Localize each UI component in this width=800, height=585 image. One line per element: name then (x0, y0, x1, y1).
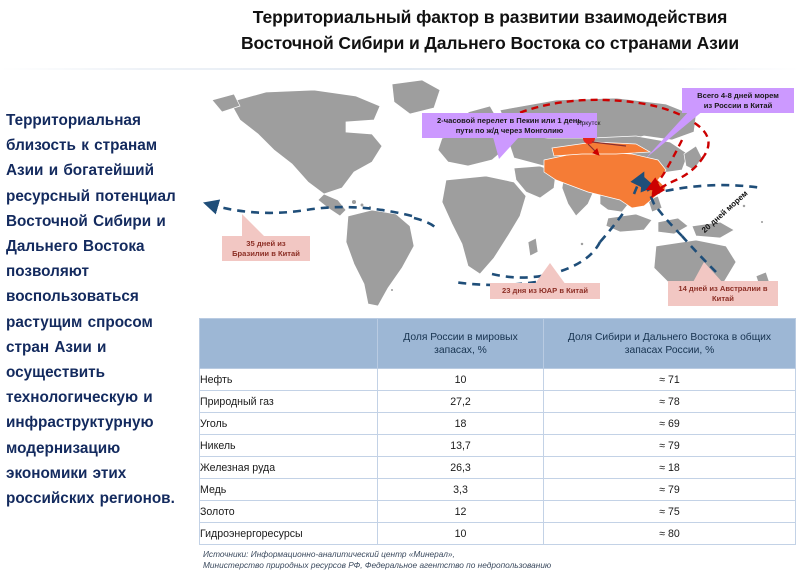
cell-world-share: 18 (378, 413, 544, 435)
callout-brazil-china: 35 дней из Бразилии в Китай (222, 236, 310, 261)
table-header-siberia-share: Доля Сибири и Дальнего Востока в общих з… (544, 319, 796, 369)
table-row: Золото 12 ≈ 75 (200, 501, 796, 523)
cell-world-share: 13,7 (378, 435, 544, 457)
callout-brazil-china-tail (238, 214, 278, 238)
cell-resource-name: Гидроэнергоресурсы (200, 523, 378, 545)
callout-south-africa-china: 23 дня из ЮАР в Китай (490, 283, 600, 299)
cell-world-share: 27,2 (378, 391, 544, 413)
callout-australia-line1: 14 дней из Австралии в (672, 284, 774, 294)
callout-australia-line2: Китай (672, 294, 774, 304)
table-header-blank (200, 319, 378, 369)
callout-russia-china-tail (646, 110, 706, 162)
title-line-1: Территориальный фактор в развитии взаимо… (190, 4, 790, 30)
cell-resource-name: Медь (200, 479, 378, 501)
table-row: Нефть 10 ≈ 71 (200, 369, 796, 391)
cell-siberia-share: ≈ 69 (544, 413, 796, 435)
table-body: Нефть 10 ≈ 71 Природный газ 27,2 ≈ 78 Уг… (200, 369, 796, 545)
cell-siberia-share: ≈ 79 (544, 479, 796, 501)
title-line-2: Восточной Сибири и Дальнего Востока со с… (190, 30, 790, 56)
cell-siberia-share: ≈ 79 (544, 435, 796, 457)
callout-flight-beijing-line1: 2-часовой перелет в Пекин или 1 день (426, 116, 593, 126)
source-line-2: Министерство природных ресурсов РФ, Феде… (203, 560, 795, 571)
cell-resource-name: Нефть (200, 369, 378, 391)
table-row: Уголь 18 ≈ 69 (200, 413, 796, 435)
callout-flight-beijing-line2: пути по ж/д через Монголию (426, 126, 593, 136)
cell-resource-name: Природный газ (200, 391, 378, 413)
cell-siberia-share: ≈ 71 (544, 369, 796, 391)
cell-world-share: 12 (378, 501, 544, 523)
table-row: Природный газ 27,2 ≈ 78 (200, 391, 796, 413)
cell-resource-name: Никель (200, 435, 378, 457)
table-row: Гидроэнергоресурсы 10 ≈ 80 (200, 523, 796, 545)
callout-brazil-china-line2: Бразилии в Китай (226, 249, 306, 259)
slide-root: Территориальный фактор в развитии взаимо… (0, 0, 800, 585)
table-row: Медь 3,3 ≈ 79 (200, 479, 796, 501)
callout-russia-china-sea: Всего 4-8 дней морем из России в Китай (682, 88, 794, 113)
cell-world-share: 26,3 (378, 457, 544, 479)
map-label-irkutsk: Иркутск (577, 120, 600, 127)
table-row: Никель 13,7 ≈ 79 (200, 435, 796, 457)
cell-resource-name: Железная руда (200, 457, 378, 479)
cell-siberia-share: ≈ 18 (544, 457, 796, 479)
slide-title: Территориальный фактор в развитии взаимо… (190, 4, 790, 56)
callout-flight-beijing-tail (493, 137, 533, 167)
table-source-note: Источники: Информационно-аналитический ц… (199, 549, 795, 571)
callout-south-africa-line1: 23 дня из ЮАР в Китай (494, 286, 596, 296)
sidebar-description: Территориальная близость к странам Азии … (6, 108, 192, 511)
table-header-world-share: Доля России в мировых запасах, % (378, 319, 544, 369)
callout-flight-beijing: 2-часовой перелет в Пекин или 1 день пут… (422, 113, 597, 138)
callout-russia-china-line1: Всего 4-8 дней морем (686, 91, 790, 101)
source-line-1: Источники: Информационно-аналитический ц… (203, 549, 795, 560)
table-header-row: Доля России в мировых запасах, % Доля Си… (200, 319, 796, 369)
callout-russia-china-line2: из России в Китай (686, 101, 790, 111)
cell-resource-name: Золото (200, 501, 378, 523)
cell-siberia-share: ≈ 78 (544, 391, 796, 413)
resources-table-zone: Доля России в мировых запасах, % Доля Си… (199, 318, 795, 571)
callout-south-africa-tail (520, 263, 570, 285)
cell-world-share: 10 (378, 523, 544, 545)
resources-table: Доля России в мировых запасах, % Доля Си… (199, 318, 796, 545)
table-row: Железная руда 26,3 ≈ 18 (200, 457, 796, 479)
sidebar-paragraph: Территориальная близость к странам Азии … (6, 108, 192, 511)
callout-australia-china: 14 дней из Австралии в Китай (668, 281, 778, 306)
cell-world-share: 3,3 (378, 479, 544, 501)
callout-brazil-china-line1: 35 дней из (226, 239, 306, 249)
cell-siberia-share: ≈ 80 (544, 523, 796, 545)
cell-world-share: 10 (378, 369, 544, 391)
cell-resource-name: Уголь (200, 413, 378, 435)
title-divider (0, 68, 800, 70)
cell-siberia-share: ≈ 75 (544, 501, 796, 523)
